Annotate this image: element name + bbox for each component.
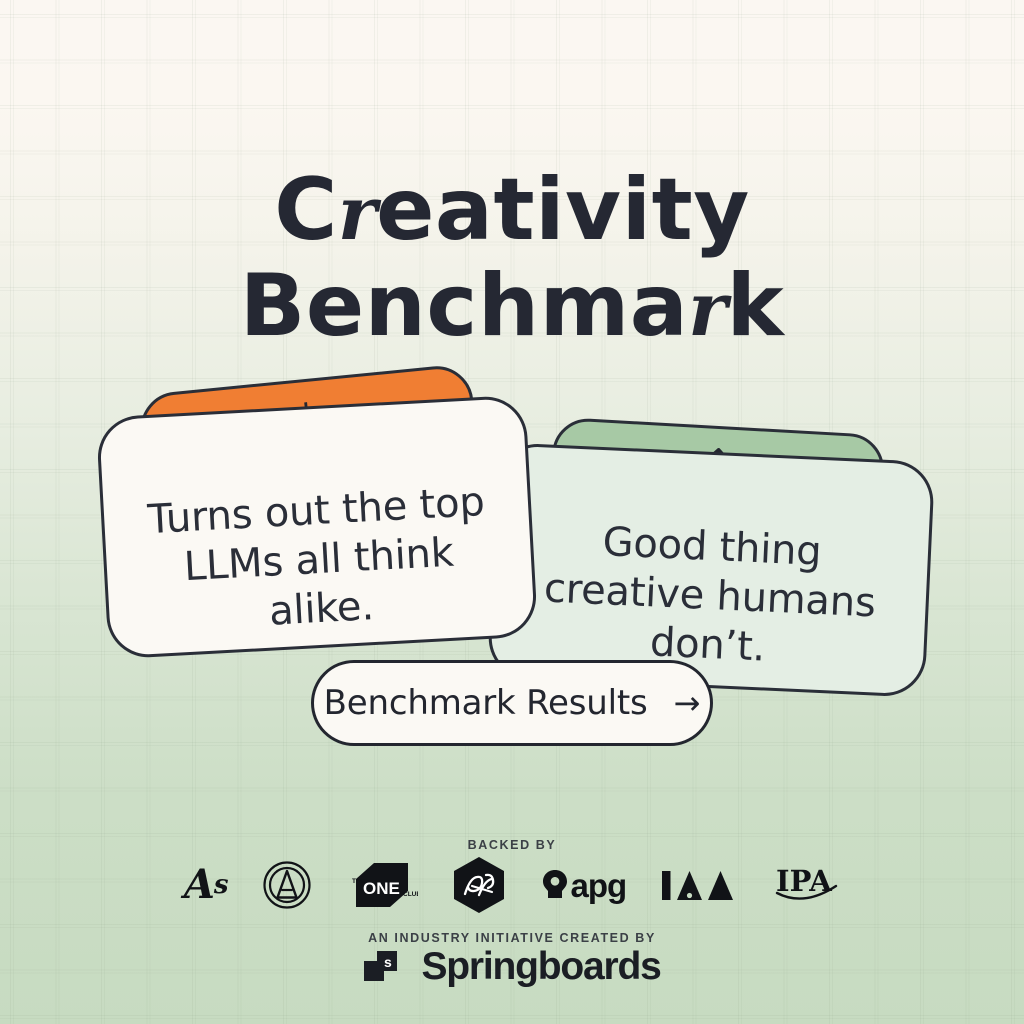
- logo-one-club: THE ONE CLUB: [346, 856, 418, 914]
- adc-icon: [262, 860, 312, 910]
- llm-card: Turns out the top LLMs all think alike.: [96, 395, 538, 660]
- logo-adc: [262, 856, 312, 914]
- title-line2-swash-r: r: [688, 267, 726, 353]
- logo-apg: apg: [540, 856, 627, 914]
- springboards-mark-letter: s: [384, 954, 392, 970]
- logo-4as-a: A: [184, 865, 214, 905]
- poster-canvas: Creativity Benchmark ↑ Good thing creati…: [0, 0, 1024, 1024]
- title-line1-swash-r: r: [338, 171, 376, 257]
- one-club-club: CLUB: [403, 891, 418, 898]
- dandad-icon: [452, 856, 506, 914]
- title-line1-pre: C: [274, 160, 338, 260]
- title-line2-post: k: [726, 256, 784, 356]
- llm-card-text: Turns out the top LLMs all think alike.: [103, 476, 534, 645]
- logo-dandad: [452, 856, 506, 914]
- arrow-right-icon: →: [674, 687, 701, 719]
- one-club-one: ONE: [363, 879, 400, 898]
- benchmark-results-button[interactable]: Benchmark Results →: [311, 660, 713, 746]
- logo-ipa: IPA: [774, 856, 840, 914]
- partner-logo-row: As THE ONE CLUB: [0, 856, 1024, 914]
- page-title-line-2: Benchmark: [0, 258, 1024, 354]
- human-card-text: Good thing creative humans don’t.: [491, 513, 929, 679]
- apg-bulb-icon: [540, 868, 570, 902]
- page-title: Creativity Benchmark: [0, 162, 1024, 355]
- logo-iaa: [660, 856, 740, 914]
- springboards-mark-icon: s: [363, 948, 405, 986]
- benchmark-results-label: Benchmark Results: [324, 683, 648, 723]
- backed-by-label: BACKED BY: [0, 838, 1024, 852]
- title-line2-pre: Benchma: [240, 256, 688, 356]
- logo-4as-s: s: [214, 872, 228, 898]
- title-line1-post: eativity: [376, 160, 750, 260]
- ipa-icon: IPA: [774, 862, 840, 908]
- logo-4as: As: [184, 856, 228, 914]
- springboards-logo: s Springboards: [0, 947, 1024, 986]
- created-by-label: AN INDUSTRY INITIATIVE CREATED BY: [0, 931, 1024, 945]
- one-club-icon: THE ONE CLUB: [346, 861, 418, 909]
- iaa-icon: [660, 867, 740, 903]
- page-title-line-1: Creativity: [0, 162, 1024, 258]
- springboards-wordmark: Springboards: [421, 947, 660, 986]
- logo-apg-word: apg: [571, 869, 627, 902]
